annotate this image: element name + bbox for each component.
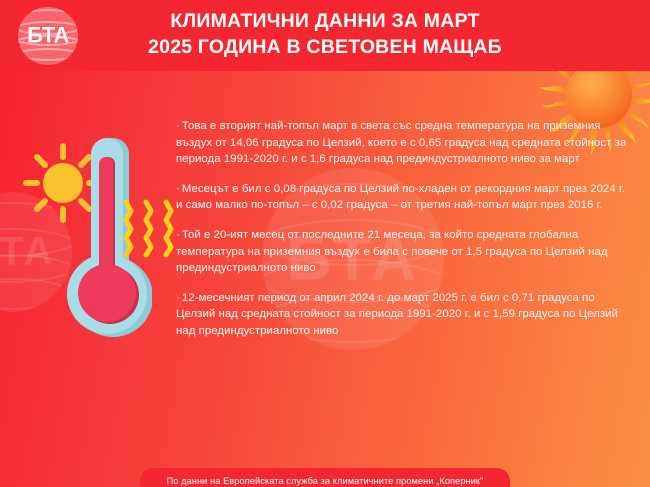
body-paragraph-2-text: Месецът е бил с 0,08 градуса по Целзий п… bbox=[176, 183, 625, 212]
bullet-4: · bbox=[176, 292, 180, 304]
bullet-3: · bbox=[176, 229, 180, 241]
body-paragraph-1-text: Това е вторият най-топъл март в света съ… bbox=[176, 120, 626, 165]
body-paragraph-4: ·12-месечният период от април 2024 г. до… bbox=[176, 290, 628, 340]
heat-wave-icon bbox=[118, 198, 174, 260]
infographic-canvas: БТА БТА bbox=[0, 0, 650, 487]
footer-source-bar: По данни на Европейската служба за клима… bbox=[140, 468, 510, 487]
body-text-block: ·Това е вторият най-топъл март в света с… bbox=[176, 118, 628, 340]
bta-logo-text: БТА bbox=[18, 22, 78, 48]
bta-logo[interactable]: БТА bbox=[18, 7, 78, 65]
bullet-1: · bbox=[176, 120, 180, 132]
page-title-line-1: КЛИМАТИЧНИ ДАННИ ЗА МАРТ bbox=[110, 8, 540, 34]
body-paragraph-3: ·Той е 20-ият месец от последните 21 мес… bbox=[176, 227, 628, 277]
footer-source-text: По данни на Европейската служба за клима… bbox=[167, 476, 484, 486]
thermometer-illustration bbox=[20, 140, 170, 360]
body-paragraph-3-text: Той е 20-ият месец от последните 21 месе… bbox=[176, 229, 608, 274]
page-title: КЛИМАТИЧНИ ДАННИ ЗА МАРТ 2025 ГОДИНА В С… bbox=[110, 8, 540, 60]
body-paragraph-4-text: 12-месечният период от април 2024 г. до … bbox=[176, 292, 618, 337]
body-paragraph-1: ·Това е вторият най-топъл март в света с… bbox=[176, 118, 628, 168]
body-paragraph-2: ·Месецът е бил с 0,08 градуса по Целзий … bbox=[176, 181, 628, 214]
bullet-2: · bbox=[176, 183, 180, 195]
page-title-line-2: 2025 ГОДИНА В СВЕТОВЕН МАЩАБ bbox=[110, 34, 540, 60]
